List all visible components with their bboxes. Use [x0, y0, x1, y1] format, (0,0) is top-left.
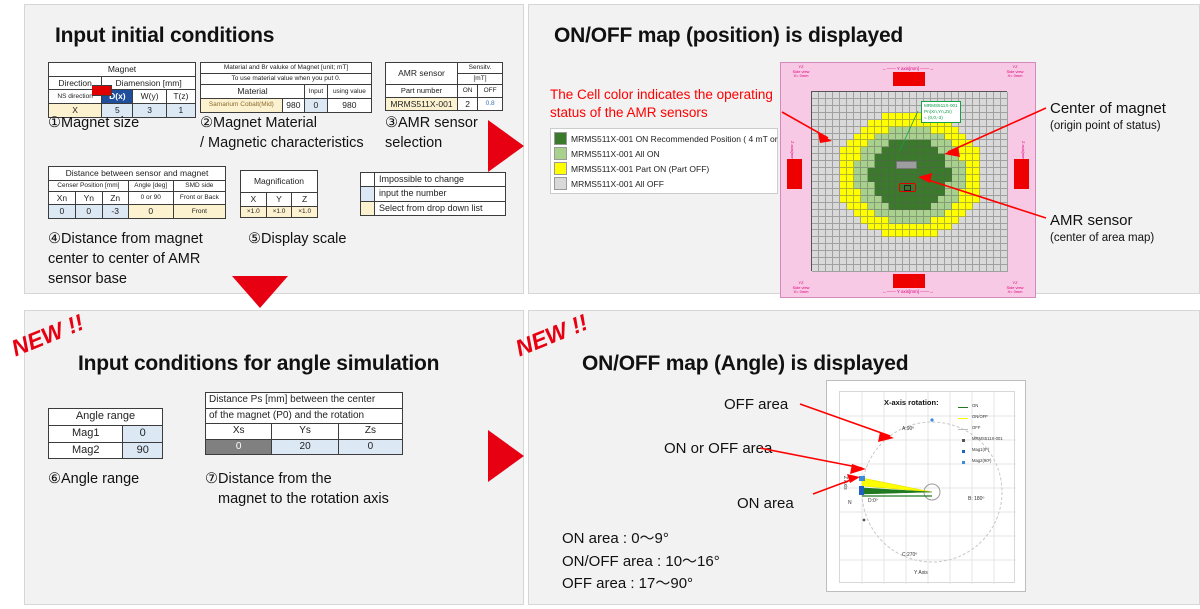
- map-cell: [847, 154, 854, 161]
- map-cell: [861, 92, 868, 99]
- map-cell: [854, 210, 861, 217]
- map-cell: [1001, 251, 1008, 258]
- map-cell: [987, 99, 994, 106]
- map-cell: [994, 189, 1001, 196]
- map-cell: [917, 224, 924, 231]
- map-cell: [917, 154, 924, 161]
- map-cell: [826, 196, 833, 203]
- map-cell: [966, 175, 973, 182]
- distance-col-yn: Yn: [75, 191, 102, 205]
- map-cell: [833, 210, 840, 217]
- map-cell: [826, 217, 833, 224]
- map-cell: [903, 147, 910, 154]
- map-cell: [875, 92, 882, 99]
- map-cell: [812, 154, 819, 161]
- map-cell: [903, 175, 910, 182]
- map-cell: [840, 189, 847, 196]
- map-cell: [826, 251, 833, 258]
- table-angle-range[interactable]: Angle range Mag1 0 Mag2 90: [48, 408, 163, 459]
- map-cell: [952, 237, 959, 244]
- map-cell: [854, 140, 861, 147]
- map-cell: [938, 265, 945, 272]
- map-cell: [1001, 189, 1008, 196]
- material-header-line2: To use material value when you put 0.: [201, 74, 372, 85]
- map-cell: [973, 120, 980, 127]
- map-cell: [903, 154, 910, 161]
- map-cell: [833, 106, 840, 113]
- map-cell: [854, 113, 861, 120]
- map-cell: [854, 203, 861, 210]
- map-cell: [938, 168, 945, 175]
- table-magnet-material[interactable]: Material and Br valuke of Magnet [unit; …: [200, 62, 372, 113]
- map-cell: [819, 113, 826, 120]
- status-label-all-off: MRMS511X-001 All OFF: [571, 179, 664, 189]
- map-cell: [875, 244, 882, 251]
- map-cell: [917, 147, 924, 154]
- legend-dot-mag2-icon: [962, 461, 965, 464]
- amr-sens-header-line1: Sensitv.: [458, 63, 503, 74]
- map-cell: [882, 224, 889, 231]
- amr-off-value: 0.8: [478, 97, 503, 111]
- map-cell: [987, 154, 994, 161]
- map-cell: [952, 175, 959, 182]
- map-cell: [854, 120, 861, 127]
- map-cell: [875, 168, 882, 175]
- map-cell: [952, 210, 959, 217]
- map-cell: [917, 210, 924, 217]
- map-cell: [987, 203, 994, 210]
- position-map-grid[interactable]: [811, 91, 1007, 271]
- map-cell: [924, 140, 931, 147]
- ps-header-line1: Distance Ps [mm] between the center: [206, 393, 403, 409]
- map-cell: [945, 175, 952, 182]
- map-cell: [980, 182, 987, 189]
- map-cell: [973, 92, 980, 99]
- magnification-value-x[interactable]: ×1.0: [241, 206, 267, 217]
- map-cell: [882, 230, 889, 237]
- map-cell: [987, 258, 994, 265]
- map-cell: [840, 217, 847, 224]
- map-cell: [868, 224, 875, 231]
- caption-amr-selection-line2: selection: [385, 134, 442, 154]
- map-cell: [889, 230, 896, 237]
- angle-legend-item: OFF: [958, 424, 1014, 435]
- map-cell: [994, 224, 1001, 231]
- magnification-value-z[interactable]: ×1.0: [292, 206, 318, 217]
- ps-col-xs: Xs: [206, 424, 272, 440]
- map-cell: [889, 99, 896, 106]
- map-cell: [875, 175, 882, 182]
- map-cell: [812, 265, 819, 272]
- map-cell: [980, 113, 987, 120]
- magnet-dx-red-marker: [92, 85, 112, 96]
- table-amr-sensor[interactable]: AMR sensor Sensitv. [mT] Part number ON …: [385, 62, 503, 111]
- legend-line-on-icon: [958, 407, 968, 408]
- map-cell: [882, 175, 889, 182]
- cell-key-swatch-1: [361, 187, 375, 201]
- callout-center-of-magnet: Center of magnet (origin point of status…: [1050, 100, 1166, 133]
- map-cell: [833, 230, 840, 237]
- map-cell: [973, 258, 980, 265]
- map-cell: [945, 265, 952, 272]
- map-cell: [959, 258, 966, 265]
- map-cell: [889, 189, 896, 196]
- map-cell: [938, 258, 945, 265]
- map-cell: [994, 113, 1001, 120]
- map-cell: [875, 113, 882, 120]
- map-cell: [903, 99, 910, 106]
- distance-group-censer: Censer Position [mm]: [49, 180, 129, 191]
- map-cell: [994, 127, 1001, 134]
- map-cell: [1001, 217, 1008, 224]
- map-cell: [819, 175, 826, 182]
- map-cell: [833, 168, 840, 175]
- map-cell: [910, 154, 917, 161]
- angle-label-d: D:0º: [868, 498, 878, 504]
- map-cell: [910, 196, 917, 203]
- material-col-material: Material: [201, 85, 305, 99]
- map-cell: [819, 134, 826, 141]
- map-cell: [931, 210, 938, 217]
- map-cell: [973, 99, 980, 106]
- map-cell: [854, 196, 861, 203]
- status-label-all-on: MRMS511X-001 All ON: [571, 149, 660, 159]
- map-cell: [882, 196, 889, 203]
- map-cell: [875, 237, 882, 244]
- map-cell: [826, 182, 833, 189]
- map-cell: [875, 134, 882, 141]
- map-cell: [868, 217, 875, 224]
- map-cell: [812, 106, 819, 113]
- map-cell: [987, 127, 994, 134]
- map-cell: [889, 182, 896, 189]
- map-cell: [812, 99, 819, 106]
- map-cell: [854, 217, 861, 224]
- map-cell: [889, 147, 896, 154]
- map-cell: [840, 140, 847, 147]
- map-cell: [945, 134, 952, 141]
- magnet-subheader-dimension: Diamension [mm]: [102, 76, 196, 90]
- angle-label-y-axis: Z Axis: [842, 476, 848, 490]
- map-cell: [826, 113, 833, 120]
- map-cell: [868, 189, 875, 196]
- flow-arrow-down: [232, 276, 288, 308]
- map-cell: [882, 120, 889, 127]
- map-cell: [882, 147, 889, 154]
- table-distance-ps[interactable]: Distance Ps [mm] between the center of t…: [205, 392, 403, 455]
- angle-callout-off-area: OFF area: [724, 396, 788, 415]
- map-cell: [952, 258, 959, 265]
- map-cell: [980, 196, 987, 203]
- table-magnet-size[interactable]: Magnet Direction Diamension [mm] NS dire…: [48, 62, 196, 118]
- map-cell: [833, 161, 840, 168]
- map-cell: [889, 175, 896, 182]
- map-cell: [973, 237, 980, 244]
- magnification-col-z: Z: [292, 193, 318, 207]
- map-cell: [1001, 175, 1008, 182]
- map-cell: [826, 210, 833, 217]
- angle-range-onoff: ON/OFF area : 10〜16°: [562, 551, 720, 574]
- map-cell: [882, 92, 889, 99]
- map-cell: [896, 120, 903, 127]
- ps-value-zs[interactable]: 0: [338, 439, 402, 455]
- map-cell: [903, 203, 910, 210]
- map-cell: [1001, 120, 1008, 127]
- map-cell: [812, 182, 819, 189]
- amr-sens-header-line2: [mT]: [458, 74, 503, 85]
- distance-value-side[interactable]: Front: [173, 205, 225, 219]
- map-cell: [959, 92, 966, 99]
- map-cell: [896, 217, 903, 224]
- map-cell: [812, 244, 819, 251]
- map-cell: [903, 168, 910, 175]
- map-cell: [847, 182, 854, 189]
- map-cell: [931, 217, 938, 224]
- angle-range-value-mag2[interactable]: 90: [123, 442, 163, 459]
- map-cell: [973, 113, 980, 120]
- distance-value-zn[interactable]: -3: [102, 205, 128, 219]
- map-cell: [861, 147, 868, 154]
- angle-label-a: A:90º: [902, 426, 914, 432]
- map-cell: [882, 127, 889, 134]
- map-cell: [833, 154, 840, 161]
- angle-range-label-mag1: Mag1: [49, 425, 123, 442]
- map-cell: [847, 224, 854, 231]
- map-cell: [994, 99, 1001, 106]
- map-red-strip-bottom: [893, 274, 925, 288]
- map-cell: [903, 120, 910, 127]
- caption-magnet-size: ①Magnet size: [48, 114, 139, 134]
- distance-value-yn[interactable]: 0: [75, 205, 102, 219]
- map-cell: [826, 237, 833, 244]
- map-cell: [847, 251, 854, 258]
- map-cell: [973, 217, 980, 224]
- map-cell: [1001, 258, 1008, 265]
- map-cell: [980, 140, 987, 147]
- map-cell: [826, 189, 833, 196]
- map-cell: [945, 237, 952, 244]
- map-cell: [819, 217, 826, 224]
- map-cell: [903, 196, 910, 203]
- map-cell: [994, 251, 1001, 258]
- map-cell: [833, 113, 840, 120]
- map-cell: [980, 120, 987, 127]
- angle-map-figure[interactable]: X-axis rotation: A:90º B: 180º C:270º D:…: [826, 380, 1026, 592]
- map-cell: [868, 182, 875, 189]
- map-cell: [917, 140, 924, 147]
- map-cell: [1001, 134, 1008, 141]
- map-cell: [1001, 140, 1008, 147]
- map-cell: [952, 244, 959, 251]
- legend-label-on: ON: [972, 403, 978, 408]
- map-cell: [952, 196, 959, 203]
- map-cell: [910, 230, 917, 237]
- map-cell: [840, 203, 847, 210]
- caption-display-scale: ⑤Display scale: [248, 230, 346, 250]
- map-cell: [1001, 147, 1008, 154]
- map-cell: [973, 251, 980, 258]
- angle-plot-area[interactable]: X-axis rotation: A:90º B: 180º C:270º D:…: [839, 391, 1015, 583]
- map-cell: [882, 140, 889, 147]
- map-red-strip-left: [787, 159, 802, 189]
- map-cell: [847, 203, 854, 210]
- map-cell: [994, 258, 1001, 265]
- map-cell: [910, 258, 917, 265]
- map-cell: [840, 244, 847, 251]
- material-name-value[interactable]: Samarium Cobalt(Mid): [201, 98, 283, 112]
- map-cell: [966, 147, 973, 154]
- map-cell: [896, 258, 903, 265]
- map-cell: [945, 182, 952, 189]
- map-cell: [917, 244, 924, 251]
- map-cell: [861, 251, 868, 258]
- distance-value-angle[interactable]: 0: [128, 205, 173, 219]
- map-cell: [847, 175, 854, 182]
- map-cell: [812, 175, 819, 182]
- map-cell: [931, 154, 938, 161]
- map-cell: [882, 210, 889, 217]
- map-cell: [910, 203, 917, 210]
- position-map-figure[interactable]: YZSide viewX= 0mm YZSide viewX= 0mm YZSi…: [780, 62, 1036, 298]
- distance-header: Distance between sensor and magnet: [49, 167, 226, 181]
- map-cell: [931, 134, 938, 141]
- legend-line-onoff-icon: [958, 418, 968, 419]
- map-cell: [812, 134, 819, 141]
- map-cell: [826, 244, 833, 251]
- map-cell: [952, 161, 959, 168]
- map-cell: [980, 92, 987, 99]
- map-cell: [910, 224, 917, 231]
- map-cell: [917, 161, 924, 168]
- map-cell: [959, 168, 966, 175]
- map-cell: [924, 92, 931, 99]
- map-cell: [847, 140, 854, 147]
- map-cell: [910, 134, 917, 141]
- map-cell: [917, 168, 924, 175]
- magnification-value-y[interactable]: ×1.0: [266, 206, 292, 217]
- map-cell: [959, 210, 966, 217]
- map-cell: [938, 147, 945, 154]
- map-cell: [861, 140, 868, 147]
- map-cell: [924, 244, 931, 251]
- table-magnification[interactable]: Magnification X Y Z ×1.0 ×1.0 ×1.0: [240, 170, 318, 218]
- map-axis-label-right: Z axis[mm]: [1021, 141, 1026, 161]
- map-cell: [826, 106, 833, 113]
- map-cell: [910, 210, 917, 217]
- map-cell: [882, 203, 889, 210]
- map-cell: [847, 161, 854, 168]
- map-cell: [910, 265, 917, 272]
- map-cell: [994, 217, 1001, 224]
- map-cell: [833, 244, 840, 251]
- map-cell: [1001, 161, 1008, 168]
- map-cell: [812, 127, 819, 134]
- map-cell: [952, 230, 959, 237]
- map-cell: [931, 196, 938, 203]
- map-cell: [959, 161, 966, 168]
- caption-angle-range: ⑥Angle range: [48, 470, 139, 490]
- map-cell: [910, 147, 917, 154]
- material-header-line1: Material and Br valuke of Magnet [unit; …: [201, 63, 372, 74]
- map-cell: [847, 168, 854, 175]
- map-cell: [840, 182, 847, 189]
- table-cell-color-key: Impossible to change input the number Se…: [360, 172, 506, 216]
- map-cell: [840, 92, 847, 99]
- map-cell: [833, 147, 840, 154]
- map-cell: [812, 217, 819, 224]
- map-cell: [819, 120, 826, 127]
- map-cell: [966, 168, 973, 175]
- map-cell: [917, 189, 924, 196]
- map-cell: [868, 127, 875, 134]
- map-green-callout-line2: Pn(Xn,Yn,Zn): [924, 109, 952, 114]
- amr-on-value: 2: [458, 97, 478, 111]
- map-cell: [840, 120, 847, 127]
- map-cell: [868, 113, 875, 120]
- magnet-value-tz[interactable]: 1: [166, 103, 195, 117]
- map-cell: [861, 120, 868, 127]
- map-cell: [987, 113, 994, 120]
- amr-part-number-value[interactable]: MRMS511X-001: [386, 97, 458, 111]
- map-cell: [854, 127, 861, 134]
- caption-magnet-material-line2: / Magnetic characteristics: [200, 134, 364, 154]
- map-cell: [980, 175, 987, 182]
- map-cell: [959, 251, 966, 258]
- map-cell: [868, 92, 875, 99]
- map-cell: [987, 210, 994, 217]
- map-cell: [1001, 265, 1008, 272]
- map-cell: [861, 217, 868, 224]
- map-cell: [980, 99, 987, 106]
- map-cell: [931, 92, 938, 99]
- status-label-on-recommended: MRMS511X-001 ON Recommended Position ( 4…: [571, 134, 778, 144]
- angle-callout-on-or-off-area: ON or OFF area: [664, 440, 772, 459]
- angle-range-value-mag1[interactable]: 0: [123, 425, 163, 442]
- map-cell: [980, 210, 987, 217]
- angle-label-origin-n: N: [848, 500, 852, 506]
- map-cell: [959, 147, 966, 154]
- map-cell: [973, 161, 980, 168]
- map-cell: [854, 99, 861, 106]
- ps-value-ys[interactable]: 20: [272, 439, 338, 455]
- map-cell: [812, 224, 819, 231]
- map-cell: [994, 161, 1001, 168]
- map-cell: [924, 182, 931, 189]
- map-cell: [973, 147, 980, 154]
- map-cell: [819, 189, 826, 196]
- map-cell: [973, 203, 980, 210]
- map-cell: [973, 175, 980, 182]
- map-cell: [812, 237, 819, 244]
- map-cell: [994, 244, 1001, 251]
- distance-value-xn[interactable]: 0: [49, 205, 76, 219]
- table-distance-sensor-magnet[interactable]: Distance between sensor and magnet Cense…: [48, 166, 226, 219]
- legend-label-mag2: Mag2(90º): [972, 458, 991, 463]
- map-cell: [945, 168, 952, 175]
- map-cell: [889, 217, 896, 224]
- material-input-value[interactable]: 0: [305, 98, 328, 112]
- map-cell: [966, 106, 973, 113]
- map-cell: [959, 154, 966, 161]
- map-cell: [952, 168, 959, 175]
- map-cell: [966, 127, 973, 134]
- map-cell: [931, 230, 938, 237]
- amr-header: AMR sensor: [386, 63, 458, 85]
- map-cell: [1001, 154, 1008, 161]
- flow-arrow-right-top: [488, 120, 524, 172]
- distance-col-angle: 0 or 90: [128, 191, 173, 205]
- map-cell: [987, 189, 994, 196]
